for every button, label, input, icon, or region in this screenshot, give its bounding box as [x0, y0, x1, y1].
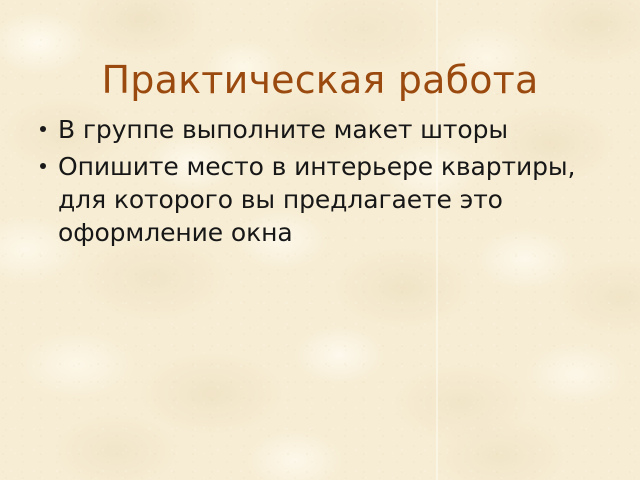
- bullet-item-text: Опишите место в интерьере квартиры, для …: [58, 150, 614, 249]
- slide-title: Практическая работа: [0, 59, 640, 102]
- slide-content: Практическая работа В группе выполните м…: [0, 0, 640, 480]
- bullet-dot-icon: [40, 163, 46, 169]
- bullet-item-text: В группе выполните макет шторы: [58, 113, 614, 146]
- bullet-list: В группе выполните макет шторы Опишите м…: [38, 113, 614, 249]
- bullet-dot-icon: [40, 126, 46, 132]
- presentation-slide: Практическая работа В группе выполните м…: [0, 0, 640, 480]
- list-item: Опишите место в интерьере квартиры, для …: [38, 150, 614, 249]
- list-item: В группе выполните макет шторы: [38, 113, 614, 146]
